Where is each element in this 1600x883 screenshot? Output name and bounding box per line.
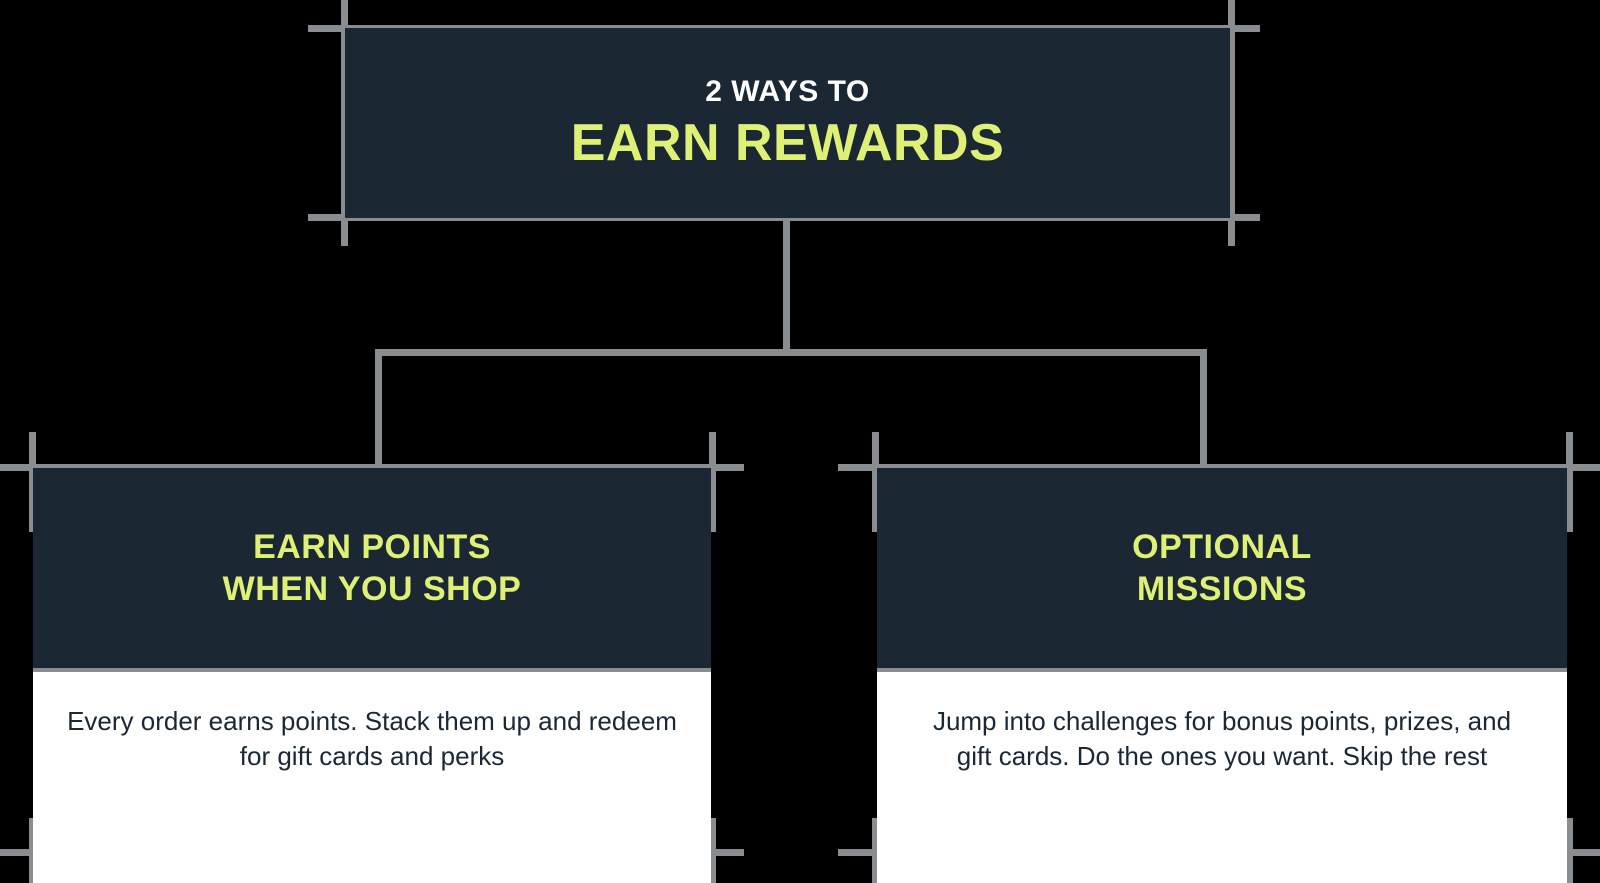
child-title-earn-points: EARN POINTS WHEN YOU SHOP [223,526,522,610]
child-description-earn-points: Every order earns points. Stack them up … [62,704,682,883]
connector-branch-left [375,349,382,471]
root-node[interactable]: 2 WAYS TO EARN REWARDS [345,28,1230,218]
child-node-optional-missions[interactable]: OPTIONAL MISSIONS Jump into challenges f… [877,468,1567,883]
connector-branch-right [1200,349,1207,471]
child-description-optional-missions: Jump into challenges for bonus points, p… [922,704,1522,883]
connector-horizontal-split [375,349,1207,356]
child-header-optional-missions: OPTIONAL MISSIONS [877,468,1567,672]
child-title-optional-missions: OPTIONAL MISSIONS [1132,526,1312,610]
right-child-frame-vline-right [1566,432,1573,532]
child-node-earn-points[interactable]: EARN POINTS WHEN YOU SHOP Every order ea… [33,468,711,883]
root-kicker-text: 2 WAYS TO [705,75,870,108]
diagram-canvas: 2 WAYS TO EARN REWARDS EARN POINTS WHEN … [0,0,1600,883]
root-title-text: EARN REWARDS [571,116,1005,171]
child-body-earn-points: Every order earns points. Stack them up … [33,672,711,883]
child-header-earn-points: EARN POINTS WHEN YOU SHOP [33,468,711,672]
connector-trunk-vertical [783,218,790,352]
child-body-optional-missions: Jump into challenges for bonus points, p… [877,672,1567,883]
